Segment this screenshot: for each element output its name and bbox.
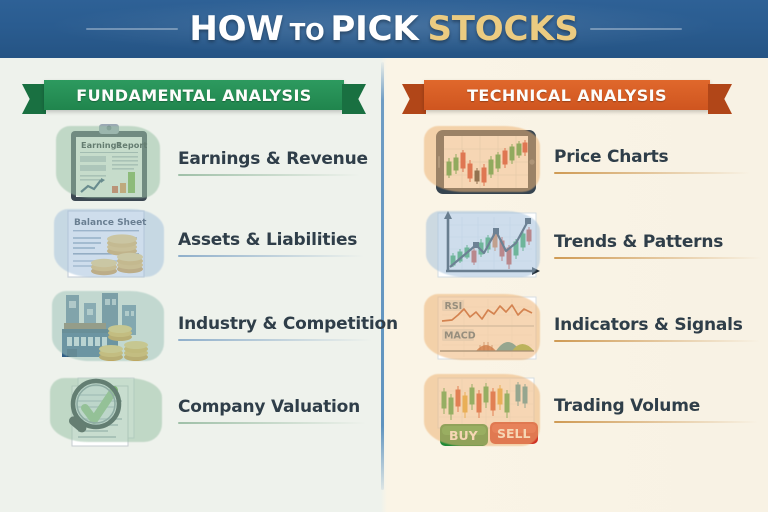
balance-sheet-coins-icon: Balance Sheet	[48, 203, 170, 283]
list-item-label: Earnings & Revenue	[178, 149, 368, 169]
list-item-label-block: Company Valuation	[178, 397, 366, 424]
right-column-banner: TECHNICAL ANALYSIS	[424, 80, 710, 110]
list-item-label-block: Industry & Competition	[178, 314, 398, 341]
list-item-label: Assets & Liabilities	[178, 230, 364, 250]
list-item-label-block: Assets & Liabilities	[178, 230, 364, 257]
left-column-banner: FUNDAMENTAL ANALYSIS	[44, 80, 344, 110]
list-item-label: Trends & Patterns	[554, 232, 762, 252]
list-item[interactable]: Price Charts	[424, 120, 750, 200]
title-word-pick: PICK	[330, 9, 418, 49]
label-underline	[554, 257, 762, 259]
left-banner-label: FUNDAMENTAL ANALYSIS	[76, 86, 311, 105]
right-banner-label: TECHNICAL ANALYSIS	[467, 86, 667, 105]
ribbon-tail-left	[402, 84, 426, 114]
label-underline	[554, 172, 750, 174]
list-item[interactable]: RSI MACD Indicators & Signals	[424, 288, 760, 368]
list-item-label: Trading Volume	[554, 396, 758, 416]
label-underline	[178, 339, 372, 341]
title-word-stocks: STOCKS	[428, 9, 579, 49]
list-item-label: Industry & Competition	[178, 314, 398, 334]
label-underline	[178, 255, 364, 257]
ribbon-tail-right	[708, 84, 732, 114]
list-item-label-block: Trading Volume	[554, 396, 758, 423]
trendline-candlestick-chart-icon	[424, 205, 546, 285]
infographic-canvas: HOWTOPICKSTOCKS FUNDAMENTAL ANALYSIS TEC…	[0, 0, 768, 512]
list-item-label-block: Earnings & Revenue	[178, 149, 368, 176]
list-item-label-block: Indicators & Signals	[554, 315, 760, 342]
ribbon-tail-left	[22, 84, 46, 114]
clipboard-earnings-report-icon: Earnings Report	[48, 122, 170, 202]
list-item-label: Company Valuation	[178, 397, 366, 417]
list-item[interactable]: Company Valuation	[48, 370, 366, 450]
label-underline	[178, 422, 366, 424]
title-word-how: HOW	[189, 9, 283, 49]
factory-buildings-coins-icon	[48, 287, 170, 367]
list-item[interactable]: Earnings Report	[48, 122, 368, 202]
volume-chart-buy-sell-icon: BUY SELL	[424, 372, 546, 452]
list-item-label: Indicators & Signals	[554, 315, 760, 335]
list-item-label-block: Price Charts	[554, 147, 750, 174]
list-item-label: Price Charts	[554, 147, 750, 167]
list-item[interactable]: Trends & Patterns	[424, 205, 762, 285]
column-divider	[381, 62, 384, 490]
header-rule-right	[590, 28, 682, 30]
page-title: HOWTOPICKSTOCKS	[189, 12, 578, 46]
label-underline	[554, 340, 760, 342]
ribbon-tail-right	[342, 84, 366, 114]
label-underline	[178, 174, 360, 176]
list-item-label-block: Trends & Patterns	[554, 232, 762, 259]
label-underline	[554, 421, 758, 423]
header-rule-left	[86, 28, 178, 30]
header-banner: HOWTOPICKSTOCKS	[0, 0, 768, 58]
magnifier-checkmark-document-icon	[48, 370, 170, 450]
rsi-macd-panel-icon: RSI MACD	[424, 288, 546, 368]
list-item[interactable]: Industry & Competition	[48, 287, 398, 367]
tablet-candlestick-chart-icon	[424, 120, 546, 200]
title-word-to: TO	[290, 20, 325, 46]
list-item[interactable]: BUY SELL Trading Volume	[424, 372, 758, 452]
list-item[interactable]: Balance Sheet	[48, 203, 364, 283]
